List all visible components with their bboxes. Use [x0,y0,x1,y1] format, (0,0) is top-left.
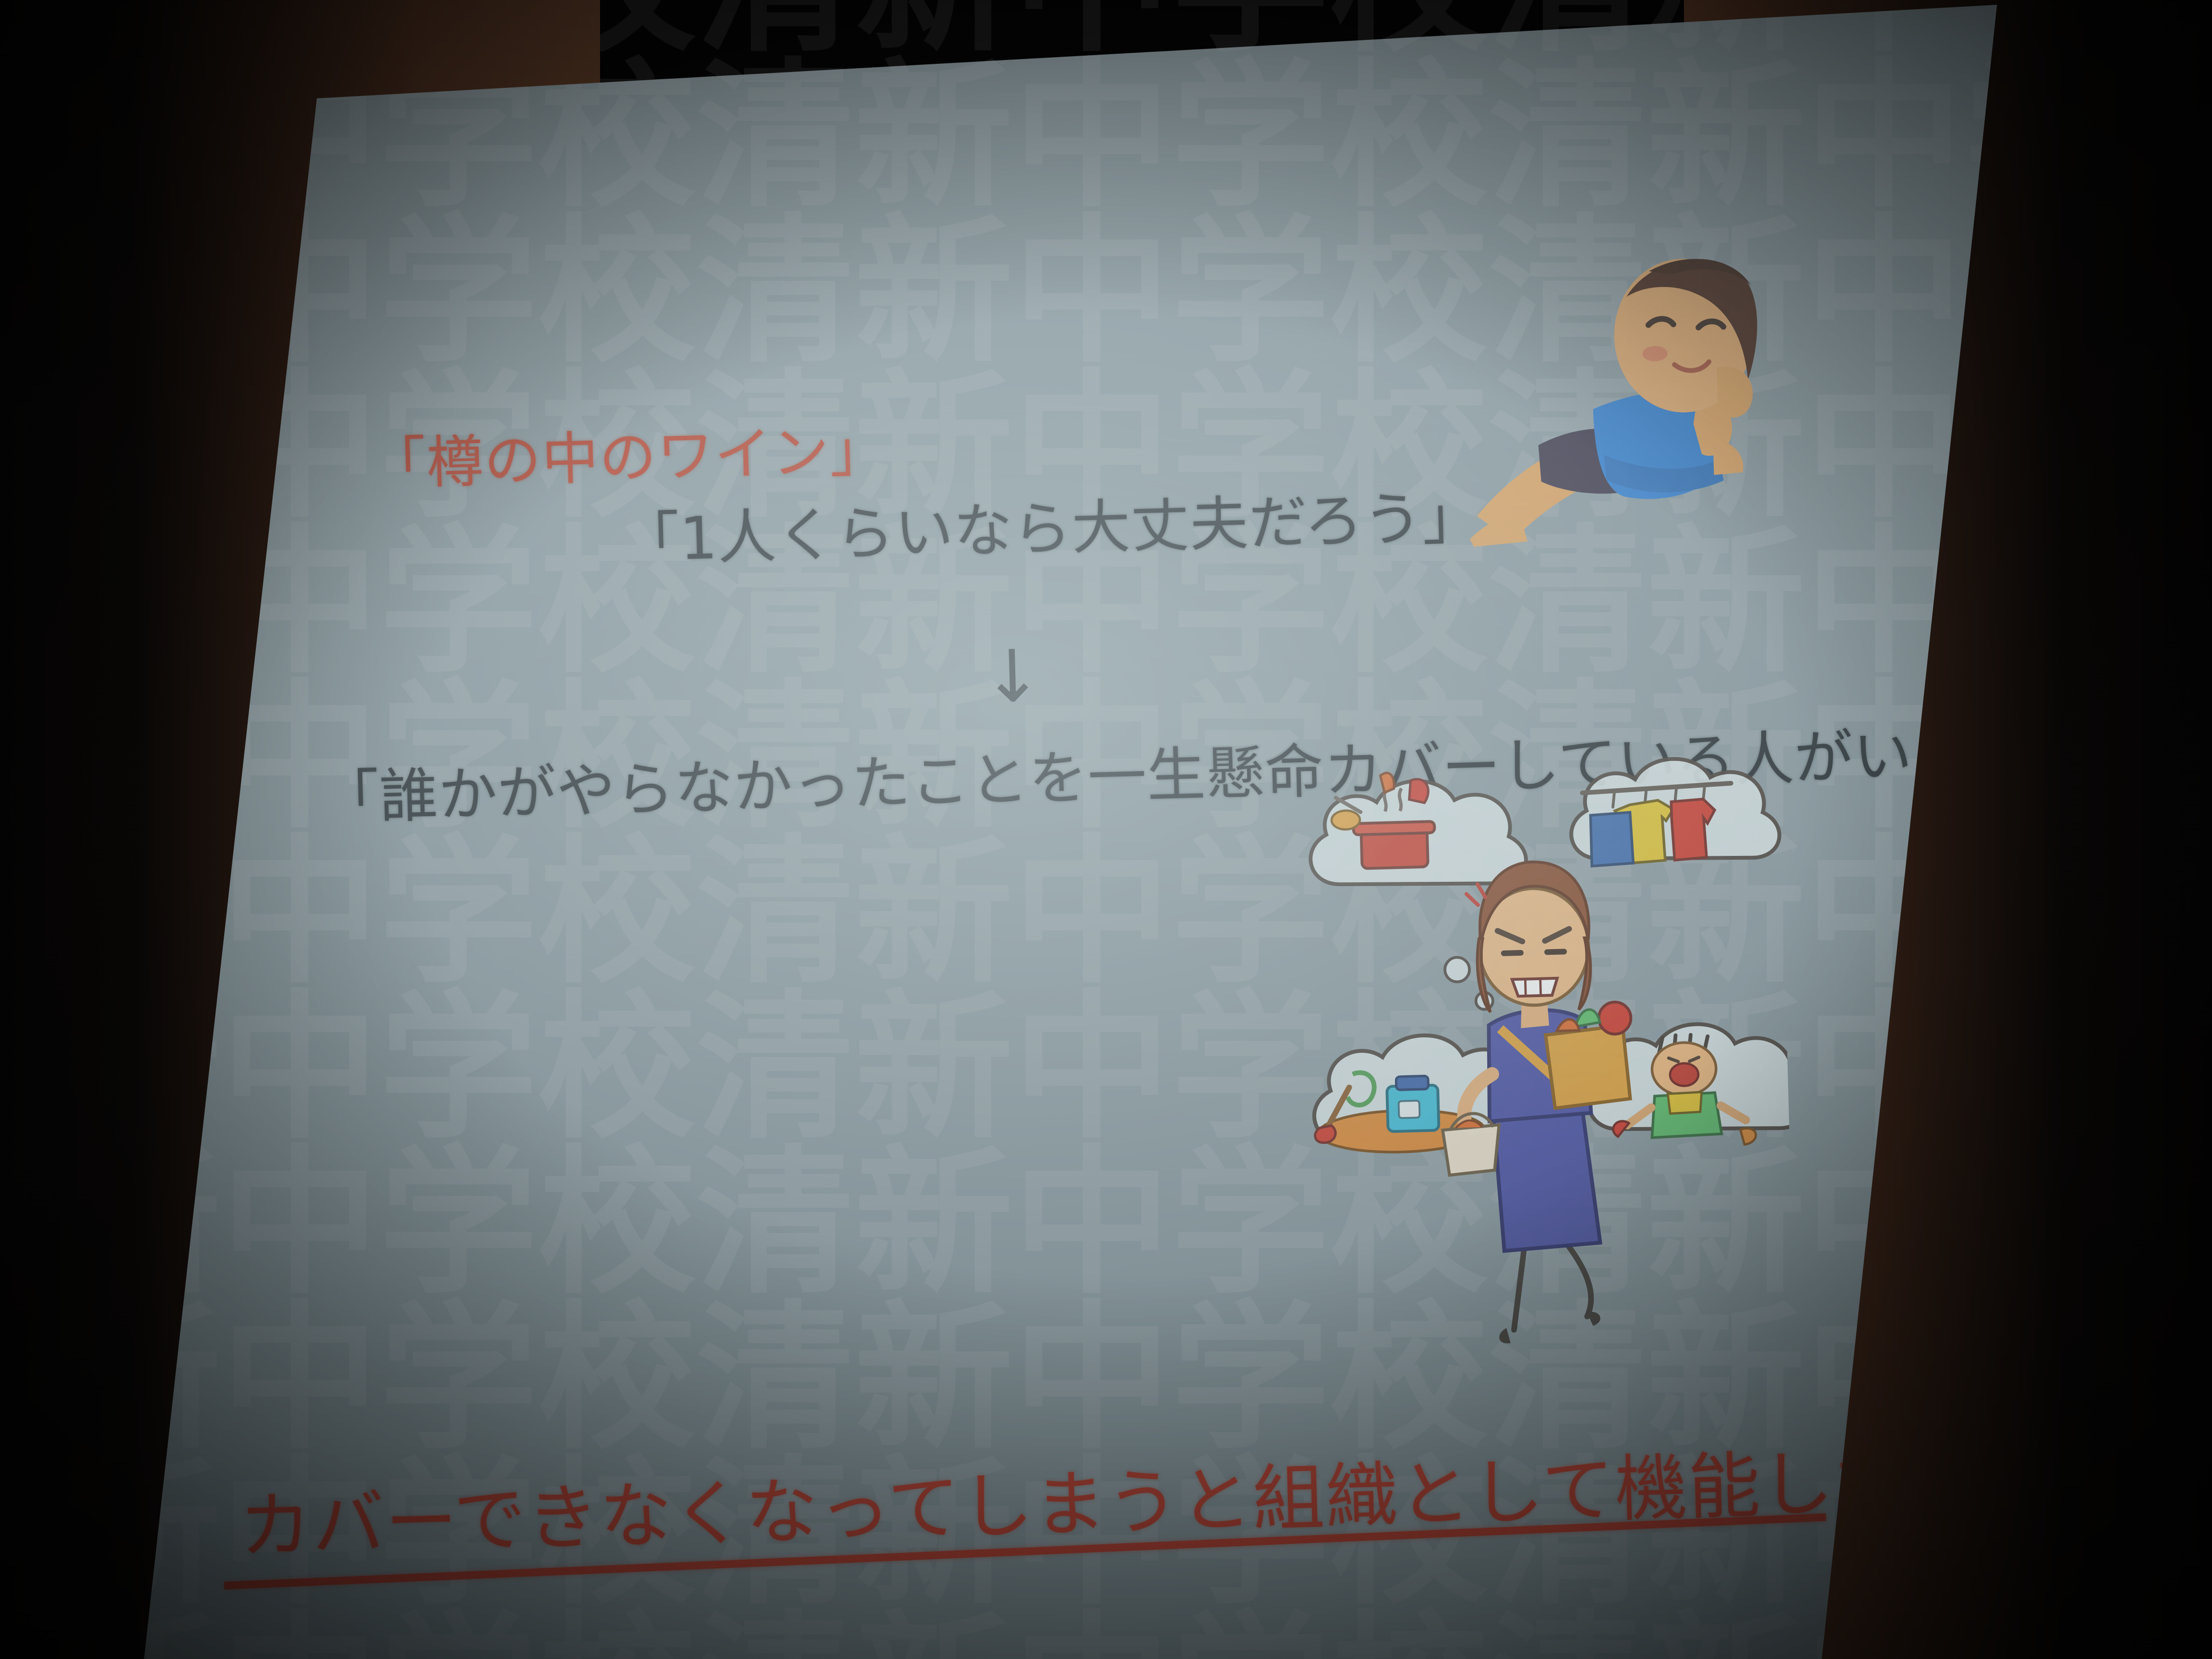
watermark-char: 中 [1013,0,1171,59]
boy-lying-down-illustration [1420,250,1793,567]
watermark-char: 新 [854,0,1013,59]
slide-title: 「樽の中のワイン」 [368,404,888,500]
mother-figure [1435,859,1639,1345]
cooking-bubble [1308,769,1527,888]
mother-illustration [1289,745,1795,1363]
down-arrow-icon: ↓ [981,640,1044,713]
watermark-char: 清 [696,0,854,59]
laundry-bubble [1569,756,1780,866]
